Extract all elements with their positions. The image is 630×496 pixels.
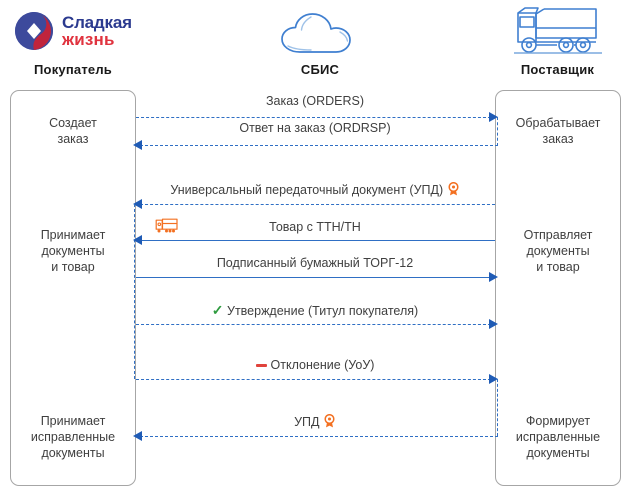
phase-line: Принимает [11, 227, 135, 243]
message-line-approve [136, 324, 491, 325]
cloud-icon [278, 8, 362, 56]
diagram-canvas: Сладкая жизнь Покупатель СБИС [0, 0, 630, 496]
check-icon: ✓ [212, 302, 224, 318]
brand-logo: Сладкая жизнь [14, 8, 139, 54]
message-line-goods [140, 240, 495, 241]
phase-line: документы [496, 445, 620, 461]
message-label-upd-fixed: УПД [135, 414, 495, 432]
message-arrowhead-goods [133, 235, 142, 245]
phase-line: документы [496, 243, 620, 259]
message-label-torg12: Подписанный бумажный ТОРГ-12 [135, 256, 495, 271]
message-label-reject: Отклонение (УоУ) [135, 358, 495, 373]
buyer-phase-create-order: Создает заказ [11, 115, 135, 147]
phase-line: документы [11, 445, 135, 461]
seal-icon [447, 182, 460, 200]
phase-line: исправленные [11, 429, 135, 445]
brand-name-line1: Сладкая [62, 14, 132, 31]
message-line-reject [136, 379, 491, 380]
message-label-goods: Товар с ТТН/ТН [135, 220, 495, 235]
buyer-lifeline-box: Создает заказ Принимает документы и това… [10, 90, 136, 486]
message-label-ordrsp: Ответ на заказ (ORDRSP) [135, 121, 495, 136]
phase-line: заказ [11, 131, 135, 147]
phase-line: Обрабатывает [496, 115, 620, 131]
supplier-turn-connector-bottom [497, 379, 498, 436]
message-label-orders: Заказ (ORDERS) [135, 94, 495, 109]
message-label-approve: ✓ Утверждение (Титул покупателя) [135, 303, 495, 319]
message-line-torg12 [136, 277, 491, 278]
supplier-turn-connector-top [497, 117, 498, 146]
message-arrowhead-torg12 [489, 272, 498, 282]
brand-wordmark: Сладкая жизнь [62, 14, 132, 48]
column-title-sbis: СБИС [255, 62, 385, 77]
supplier-phase-send-docs: Отправляет документы и товар [496, 227, 620, 275]
message-arrowhead-upd-fixed [133, 431, 142, 441]
buyer-phase-accept-docs: Принимает документы и товар [11, 227, 135, 275]
supplier-lifeline-box: Обрабатывает заказ Отправляет документы … [495, 90, 621, 486]
phase-line: заказ [496, 131, 620, 147]
brand-name-line2: жизнь [62, 31, 132, 48]
message-text-approve: Утверждение (Титул покупателя) [227, 304, 418, 318]
supplier-phase-process-order: Обрабатывает заказ [496, 115, 620, 147]
message-text-upd: Универсальный передаточный документ (УПД… [170, 183, 443, 197]
message-arrowhead-ordrsp [133, 140, 142, 150]
phase-line: Формирует [496, 413, 620, 429]
message-line-ordrsp [140, 145, 498, 146]
phase-line: и товар [496, 259, 620, 275]
sladkaya-zhizn-logo-icon [14, 11, 54, 51]
message-line-orders [136, 117, 491, 118]
buyer-phase-accept-fixed: Принимает исправленные документы [11, 413, 135, 461]
column-title-supplier: Поставщик [490, 62, 625, 77]
column-title-buyer: Покупатель [8, 62, 138, 77]
supplier-phase-make-fixed: Формирует исправленные документы [496, 413, 620, 461]
message-arrowhead-approve [489, 319, 498, 329]
phase-line: Создает [11, 115, 135, 131]
phase-line: и товар [11, 259, 135, 275]
message-line-upd [140, 204, 495, 205]
message-label-upd: Универсальный передаточный документ (УПД… [135, 182, 495, 200]
phase-line: Отправляет [496, 227, 620, 243]
message-text-reject: Отклонение (УоУ) [271, 358, 375, 372]
phase-line: Принимает [11, 413, 135, 429]
phase-line: исправленные [496, 429, 620, 445]
message-text-upd-fixed: УПД [294, 415, 319, 429]
minus-icon [256, 364, 267, 368]
phase-line: документы [11, 243, 135, 259]
seal-icon [323, 414, 336, 432]
message-line-upd-fixed [140, 436, 498, 437]
truck-icon [512, 6, 604, 58]
